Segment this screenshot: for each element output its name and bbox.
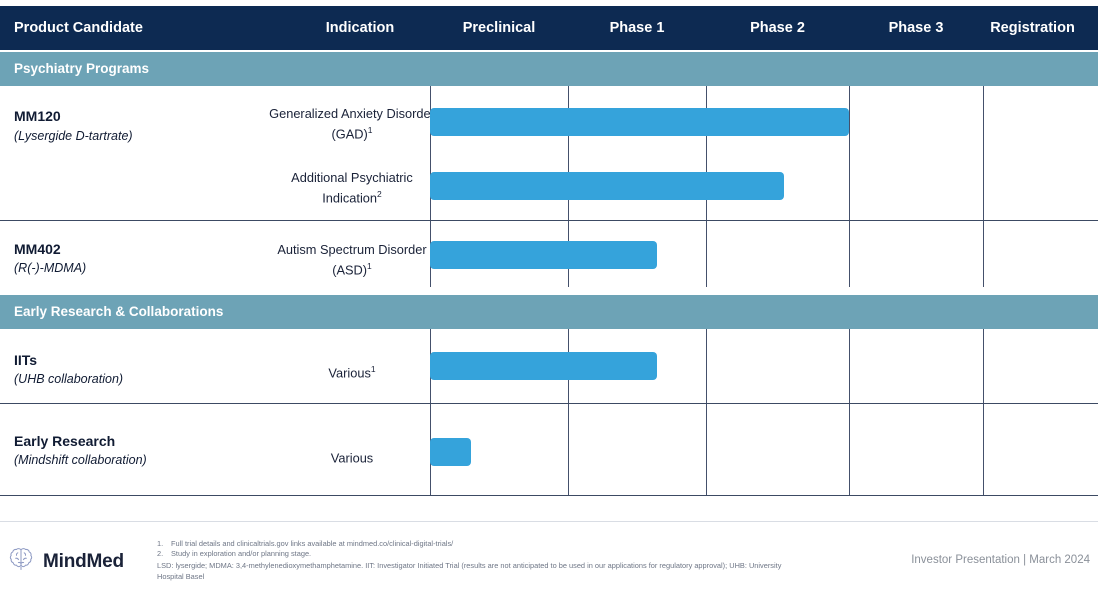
gridline-phase3-a	[849, 86, 850, 287]
column-header-product-candidate: Product Candidate	[14, 6, 143, 50]
indication-iits-various-text: Various	[328, 365, 370, 380]
gridline-registration-b	[983, 329, 984, 496]
product-name-iits: IITs	[14, 352, 37, 368]
bar-early-research-various	[430, 438, 471, 466]
product-name-early-research: Early Research	[14, 433, 115, 449]
section-label-early-research: Early Research & Collaborations	[14, 295, 223, 329]
indication-gad-footnote: 1	[368, 125, 373, 135]
mindmed-logo: MindMed	[6, 544, 124, 579]
bar-iits-various	[430, 352, 657, 380]
indication-early-research-various-text: Various	[331, 450, 373, 465]
section-label-psychiatry: Psychiatry Programs	[14, 52, 149, 86]
product-name-mm402: MM402	[14, 241, 61, 257]
footnote-1-text: Full trial details and clinicaltrials.go…	[171, 539, 453, 549]
gridline-registration-a	[983, 86, 984, 287]
abbreviations-note: LSD: lysergide; MDMA: 3,4-methylenedioxy…	[157, 561, 797, 582]
product-sub-iits: (UHB collaboration)	[14, 372, 123, 386]
bar-mm120-additional	[430, 172, 784, 200]
footnote-2-number: 2.	[157, 549, 166, 559]
presentation-meta: Investor Presentation | March 2024	[911, 554, 1090, 566]
mindmed-logo-text: MindMed	[43, 551, 124, 573]
column-header-phase-1: Phase 1	[568, 6, 706, 50]
row-divider-mm120-mm402	[0, 220, 1098, 221]
column-header-phase-2: Phase 2	[706, 6, 849, 50]
footnote-list: 1. Full trial details and clinicaltrials…	[157, 539, 857, 560]
indication-additional-psychiatric-text: Additional Psychiatric Indication	[291, 170, 413, 205]
indication-asd-text: Autism Spectrum Disorder (ASD)	[277, 242, 426, 277]
product-sub-early-research: (Mindshift collaboration)	[14, 453, 147, 467]
pipeline-chart-page: Product Candidate Indication Preclinical…	[0, 0, 1098, 594]
indication-early-research-various: Various	[267, 446, 437, 466]
indication-asd-footnote: 1	[367, 261, 372, 271]
footnote-2: 2. Study in exploration and/or planning …	[157, 549, 857, 559]
footnote-1: 1. Full trial details and clinicaltrials…	[157, 539, 857, 549]
product-sub-mm120: (Lysergide D-tartrate)	[14, 129, 133, 143]
table-bottom-border	[0, 495, 1098, 496]
indication-gad: Generalized Anxiety Disorder (GAD)1	[267, 106, 437, 142]
row-divider-iits-early-research	[0, 403, 1098, 404]
brain-icon	[6, 544, 36, 579]
table-header: Product Candidate Indication Preclinical…	[0, 6, 1098, 50]
footer-divider	[0, 521, 1098, 522]
section-band-early-research: Early Research & Collaborations	[0, 295, 1098, 329]
column-header-preclinical: Preclinical	[430, 6, 568, 50]
bar-mm402-asd	[430, 241, 657, 269]
indication-iits-footnote: 1	[371, 364, 376, 374]
section-band-psychiatry: Psychiatry Programs	[0, 52, 1098, 86]
footnote-2-text: Study in exploration and/or planning sta…	[171, 549, 311, 559]
product-name-mm120: MM120	[14, 108, 61, 124]
bar-mm120-gad	[430, 108, 849, 136]
column-header-registration: Registration	[975, 6, 1090, 50]
gridline-phase2-b	[706, 329, 707, 496]
indication-iits-various: Various1	[267, 361, 437, 381]
indication-additional-psychiatric: Additional Psychiatric Indication2	[267, 170, 437, 206]
gridline-phase3-b	[849, 329, 850, 496]
product-sub-mm402: (R(-)-MDMA)	[14, 261, 86, 275]
footnote-1-number: 1.	[157, 539, 166, 549]
column-header-indication: Indication	[275, 6, 445, 50]
indication-gad-text: Generalized Anxiety Disorder (GAD)	[269, 106, 435, 141]
indication-additional-psychiatric-footnote: 2	[377, 189, 382, 199]
column-header-phase-3: Phase 3	[849, 6, 983, 50]
indication-asd: Autism Spectrum Disorder (ASD)1	[267, 242, 437, 278]
